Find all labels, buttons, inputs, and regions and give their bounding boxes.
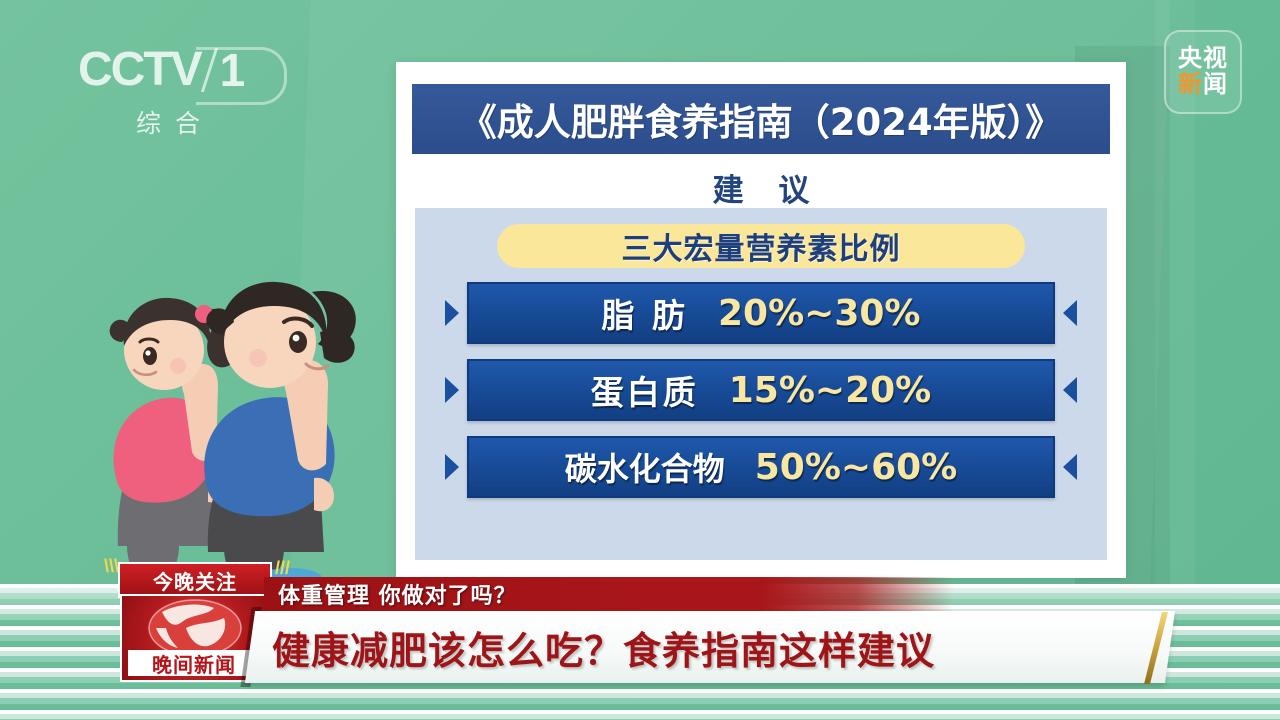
arrow-left-icon <box>1055 375 1085 405</box>
watermark-line-1: 央视 <box>1178 46 1228 72</box>
nutrient-label: 脂 肪 <box>602 289 689 337</box>
broadcast-screen: CCTV 1 综合 央视 新闻 <box>0 0 1280 720</box>
nutrient-bar: 碳水化合物 50%~60% <box>467 436 1055 498</box>
nutrient-row-carbohydrate: 碳水化合物 50%~60% <box>415 438 1107 496</box>
card-subtitle: 建 议 <box>396 165 1126 210</box>
sparkle-icon: \\\ <box>104 556 119 577</box>
nutrient-label: 碳水化合物 <box>565 444 725 490</box>
nutrient-row-protein: 蛋白质 15%~20% <box>415 361 1107 419</box>
boy-figure <box>204 282 356 586</box>
info-card: 《成人肥胖食养指南（2024年版）》 建 议 三大宏量营养素比例 脂 肪 20%… <box>396 62 1126 578</box>
nutrition-pill-banner: 三大宏量营养素比例 <box>497 224 1025 268</box>
kicker-bar: 体重管理 你做对了吗？ <box>264 577 954 611</box>
arrow-right-icon <box>437 375 467 405</box>
nutrient-rows: 脂 肪 20%~30% 蛋白质 15%~20% <box>415 284 1107 515</box>
watermark-line-2: 新闻 <box>1178 72 1228 98</box>
nutrition-panel: 三大宏量营养素比例 脂 肪 20%~30% <box>415 208 1107 560</box>
nutrient-bar: 脂 肪 20%~30% <box>467 282 1055 344</box>
cctv-logo-row: CCTV 1 <box>78 42 278 98</box>
nutrient-label: 蛋白质 <box>591 366 699 414</box>
nutrition-pill-label: 三大宏量营养素比例 <box>622 224 901 268</box>
nutrient-bar: 蛋白质 15%~20% <box>467 359 1055 421</box>
couple-svg <box>58 246 378 586</box>
arrow-left-icon <box>1055 298 1085 328</box>
nutrient-row-fat: 脂 肪 20%~30% <box>415 284 1107 342</box>
watermark-char-news: 闻 <box>1203 70 1228 98</box>
program-name-plate: 晚间新闻 <box>128 650 260 676</box>
arrow-right-icon <box>437 298 467 328</box>
cctv-news-watermark: 央视 新闻 <box>1164 30 1242 114</box>
nutrient-value: 15%~20% <box>729 370 932 411</box>
cctv-wordmark: CCTV <box>78 46 201 94</box>
card-title-text: 《成人肥胖食养指南（2024年版）》 <box>460 92 1062 146</box>
arrow-right-icon <box>437 452 467 482</box>
watermark-char-new: 新 <box>1178 70 1203 98</box>
overweight-couple-illustration <box>58 246 378 586</box>
badge-top-label: 今晚关注 <box>118 562 272 598</box>
nutrient-value: 20%~30% <box>718 293 921 334</box>
cctv-channel-logo: CCTV 1 综合 <box>78 42 278 142</box>
card-title-bar: 《成人肥胖食养指南（2024年版）》 <box>412 84 1110 154</box>
sparkle-icon: /// <box>275 558 290 579</box>
headline: 健康减肥该怎么吃？食养指南这样建议 <box>272 616 1152 678</box>
cctv-channel-subtitle: 综合 <box>78 104 258 140</box>
program-name-text: 晚间新闻 <box>152 649 236 678</box>
nutrient-value: 50%~60% <box>755 447 958 488</box>
globe-icon <box>142 598 248 654</box>
badge-top-text: 今晚关注 <box>153 566 237 595</box>
cctv-pill-outline-icon <box>196 47 287 105</box>
kicker-text: 体重管理 你做对了吗？ <box>278 578 517 610</box>
arrow-left-icon <box>1055 452 1085 482</box>
headline-text: 健康减肥该怎么吃？食养指南这样建议 <box>272 620 935 675</box>
